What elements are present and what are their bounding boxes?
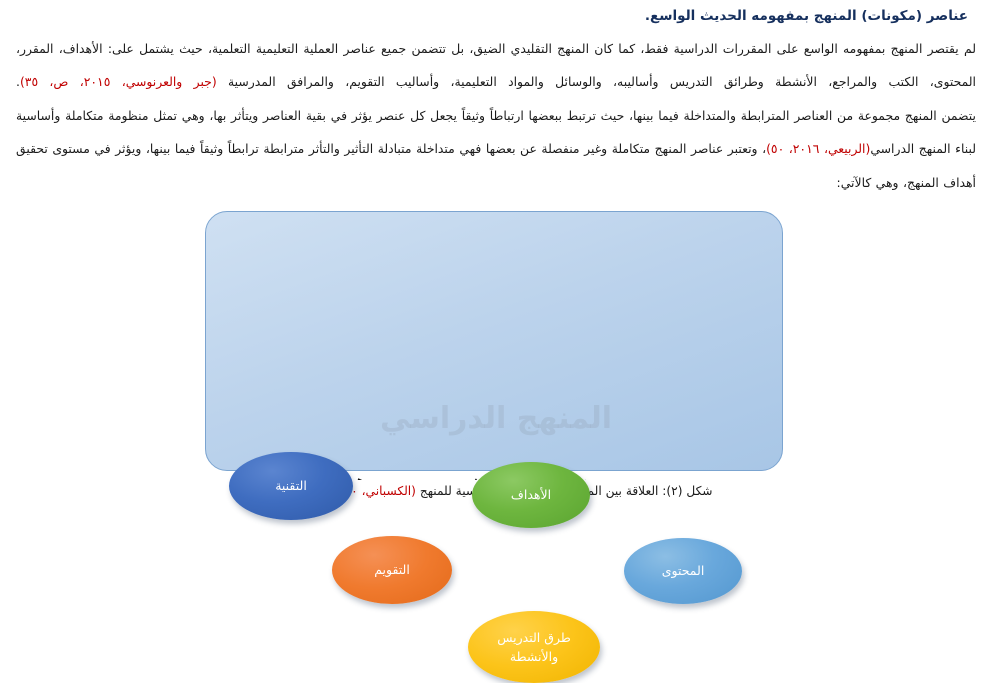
diagram-node-content-label: المحتوى [662,561,705,581]
diagram-node-eval-label: التقويم [374,560,410,580]
paragraph-2: يتضمن المنهج مجموعة من العناصر المترابطة… [16,99,976,165]
arrow-tech-to-eval [358,479,404,480]
diagram-frame [205,211,783,471]
paragraph-2-citation: (الربيعي، ٢٠١٦، ٥٠) [766,141,870,156]
paragraph-3: أهداف المنهج، وهي كالآتي: [16,166,976,199]
curriculum-components-diagram: المنهج الدراسي [0,205,992,480]
diagram-node-eval[interactable]: التقويم [332,536,452,604]
page-title: عناصر (مكونات) المنهج بمفهومه الحديث الو… [14,6,968,26]
paragraph-1: لم يقتصر المنهج بمفهومه الواسع على المقر… [16,32,976,98]
paragraph-2-tail: ، وتعتبر عناصر المنهج متكاملة وغير منفصل… [16,141,766,156]
diagram-node-methods-label-line2: والأنشطة [510,647,558,666]
paragraph-3-text: أهداف المنهج، وهي كالآتي: [837,175,976,190]
diagram-node-tech[interactable]: التقنية [229,452,353,520]
diagram-node-goals[interactable]: الأهداف [472,462,590,528]
diagram-node-methods-label-line1: طرق التدريس [497,628,571,647]
diagram-node-tech-label: التقنية [275,476,307,496]
diagram-node-methods[interactable]: طرق التدريس والأنشطة [468,611,600,683]
diagram-node-content[interactable]: المحتوى [624,538,742,604]
diagram-node-goals-label: الأهداف [511,485,551,505]
paragraph-1-citation: (جبر والعرنوسي، ٢٠١٥، ص، ٣٥) [20,74,217,89]
document-page: عناصر (مكونات) المنهج بمفهومه الحديث الو… [0,0,992,534]
